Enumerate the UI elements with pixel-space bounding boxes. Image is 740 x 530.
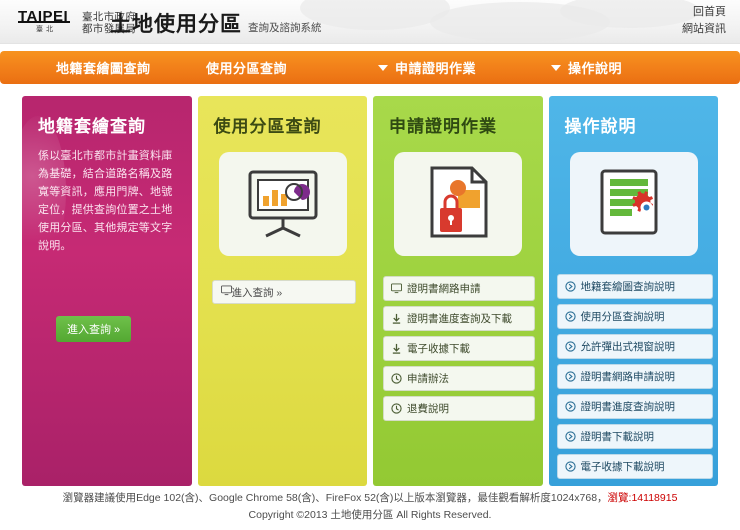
link-help-certificate-progress[interactable]: 證明書進度查詢說明 [557,394,713,419]
link-label: 證明書進度查詢及下載 [407,311,512,326]
link-help-ereceipt-download[interactable]: 電子收據下載說明 [557,454,713,479]
presentation-chart-icon-svg [240,166,326,242]
panel4-link-list: 地籍套繪圖查詢說明 使用分區查詢說明 允許彈出式視窗說明 證明書網路申請說明 證… [557,274,713,484]
panel3-link-list: 證明書網路申請 證明書進度查詢及下載 電子收據下載 申請辦法 退費說明 [383,276,535,426]
link-label: 退費說明 [407,401,449,416]
footer-note-text: 瀏覽器建議使用Edge 102(含)、Google Chrome 58(含)、F… [63,492,608,504]
footer-copyright: Copyright ©2013 土地使用分區 All Rights Reserv… [0,507,740,524]
footer-browser-note: 瀏覽器建議使用Edge 102(含)、Google Chrome 58(含)、F… [0,490,740,507]
site-header: TAIPEI 臺北 臺北市政府 都市發展局 土地使用分區 查詢及諮詢系統 回首頁… [0,0,740,44]
cloud-decor [300,0,450,30]
panel1-enter-button[interactable]: 進入查詢 » [56,316,131,342]
link-site-info[interactable]: 網站資訊 [682,21,726,38]
site-footer: 瀏覽器建議使用Edge 102(含)、Google Chrome 58(含)、F… [0,490,740,524]
arrow-right-icon [565,461,576,472]
panel3-title: 申請證明作業 [373,96,543,137]
panel1-title: 地籍套繪查詢 [22,96,192,137]
link-label: 地籍套繪圖查詢說明 [581,279,676,294]
panel-certificate-apply: 申請證明作業 證明書網路申請 證明書進度查詢及下載 [373,96,543,486]
panel4-title: 操作說明 [549,96,719,137]
panel1-description: 係以臺北市都市計畫資料庫為基礎，結合道路名稱及路寬等資訊，應用門牌、地號定位，提… [22,137,192,255]
link-label: 證明書網路申請說明 [581,369,676,384]
link-label: 證明書下載說明 [581,429,655,444]
link-ereceipt-download[interactable]: 電子收據下載 [383,336,535,361]
panel-row: 地籍套繪查詢 係以臺北市都市計畫資料庫為基礎，結合道路名稱及路寬等資訊，應用門牌… [22,96,718,486]
link-application-rules[interactable]: 申請辦法 [383,366,535,391]
monitor-icon [221,285,232,299]
link-label: 證明書進度查詢說明 [581,399,676,414]
chevron-down-icon [378,65,388,71]
arrow-right-icon [565,341,576,352]
footer-counter-value[interactable]: 14118915 [631,492,677,504]
arrow-right-icon [565,431,576,442]
settings-document-icon [570,152,698,256]
arrow-right-icon [565,371,576,382]
nav-item-apply-certificate[interactable]: 申請證明作業 [378,51,476,84]
nav-label-3: 申請證明作業 [395,58,476,77]
nav-item-cadastral-map[interactable]: 地籍套繪圖查詢 [56,51,151,84]
link-home[interactable]: 回首頁 [682,4,726,21]
link-certificate-online-apply[interactable]: 證明書網路申請 [383,276,535,301]
link-help-zoning-query[interactable]: 使用分區查詢說明 [557,304,713,329]
link-help-cadastral-map[interactable]: 地籍套繪圖查詢說明 [557,274,713,299]
link-label: 電子收據下載 [407,341,470,356]
panel2-enter-button[interactable]: 進入查詢 » [212,280,356,304]
panel-zoning-query: 使用分區查詢 進入查詢 » [198,96,368,486]
site-subtitle: 查詢及諮詢系統 [248,20,322,35]
nav-item-zoning-query[interactable]: 使用分區查詢 [206,51,287,84]
nav-label-2: 使用分區查詢 [206,58,287,77]
panel2-enter-label: 進入查詢 » [232,285,283,300]
clock-icon [391,373,402,384]
panel-cadastral-overlay: 地籍套繪查詢 係以臺北市都市計畫資料庫為基礎，結合道路名稱及路寬等資訊，應用門牌… [22,96,192,486]
settings-document-icon-svg [592,165,676,243]
download-icon [391,313,402,324]
presentation-chart-icon [219,152,347,256]
link-certificate-progress-download[interactable]: 證明書進度查詢及下載 [383,306,535,331]
nav-label-4: 操作說明 [568,58,622,77]
link-label: 證明書網路申請 [407,281,481,296]
arrow-right-icon [565,401,576,412]
chevron-down-icon [551,65,561,71]
clock-icon [391,403,402,414]
link-help-certificate-download[interactable]: 證明書下載說明 [557,424,713,449]
link-label: 使用分區查詢說明 [581,309,665,324]
panel2-title: 使用分區查詢 [198,96,368,137]
footer-counter-label: 瀏覽: [608,492,632,504]
link-label: 允許彈出式視窗說明 [581,339,676,354]
logo-sub-text: 臺北 [18,25,74,34]
top-links: 回首頁 網站資訊 [682,4,726,38]
link-label: 電子收據下載說明 [581,459,665,474]
site-title: 土地使用分區 [110,8,242,38]
monitor-icon [391,283,402,294]
link-refund-info[interactable]: 退費說明 [383,396,535,421]
main-navbar: 地籍套繪圖查詢 使用分區查詢 申請證明作業 操作說明 [0,51,740,84]
taipei-logo-mark: TAIPEI 臺北 [18,4,74,38]
nav-item-instructions[interactable]: 操作說明 [551,51,622,84]
arrow-right-icon [565,281,576,292]
site-title-block: 土地使用分區 查詢及諮詢系統 [110,8,322,38]
link-help-certificate-online-apply[interactable]: 證明書網路申請說明 [557,364,713,389]
document-lock-icon [394,152,522,256]
download-icon [391,343,402,354]
logo-divider [18,21,70,23]
nav-label-1: 地籍套繪圖查詢 [56,58,151,77]
document-lock-icon-svg [416,164,500,244]
link-label: 申請辦法 [407,371,449,386]
panel-instructions: 操作說明 地籍套繪圖查詢說明 使用分區查 [549,96,719,486]
link-help-popup-window[interactable]: 允許彈出式視窗說明 [557,334,713,359]
arrow-right-icon [565,311,576,322]
